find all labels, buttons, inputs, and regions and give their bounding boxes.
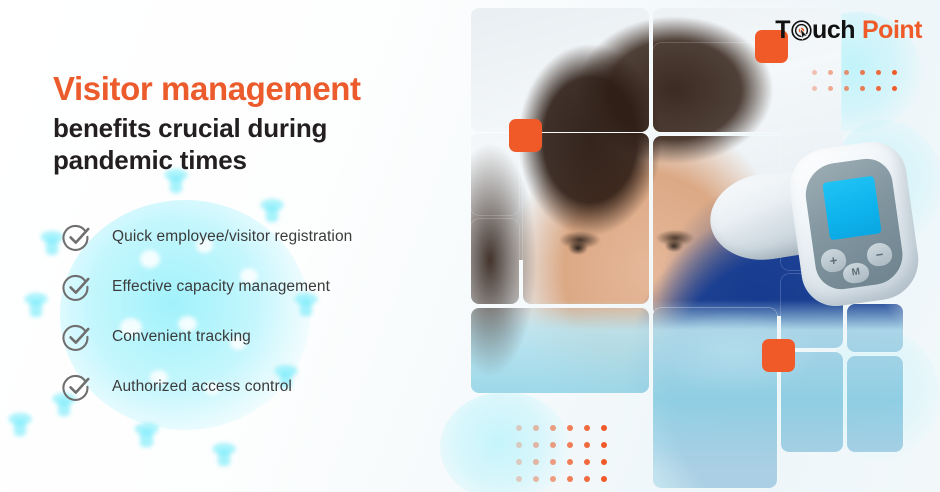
check-circle-icon xyxy=(60,320,94,354)
list-item: Convenient tracking xyxy=(60,312,460,362)
check-circle-icon xyxy=(60,220,94,254)
photo-tile xyxy=(847,304,903,352)
list-item-label: Quick employee/visitor registration xyxy=(112,228,352,246)
photo-tile xyxy=(847,356,903,452)
photo-tile xyxy=(781,130,843,182)
dot-grid-bottom-left xyxy=(516,425,607,482)
logo-text-suffix: uch xyxy=(812,18,855,43)
photo-tile xyxy=(523,133,649,304)
list-item: Effective capacity management xyxy=(60,262,460,312)
headline-line-3: pandemic times xyxy=(53,144,453,176)
photo-tile xyxy=(471,8,649,132)
photo-tile xyxy=(781,274,843,348)
text-column: Visitor management benefits crucial duri… xyxy=(0,0,470,492)
photo-tile xyxy=(653,308,777,488)
list-item-label: Effective capacity management xyxy=(112,278,330,296)
photo-tile xyxy=(471,219,519,304)
orange-square-mid-left xyxy=(509,119,542,152)
headline-line-1: Visitor management xyxy=(53,70,453,108)
list-item-label: Authorized access control xyxy=(112,378,292,396)
thermometer-mode-button: M xyxy=(842,261,871,284)
list-item: Quick employee/visitor registration xyxy=(60,212,460,262)
list-item: Authorized access control xyxy=(60,362,460,412)
check-circle-icon xyxy=(60,370,94,404)
page-title: Visitor management benefits crucial duri… xyxy=(53,70,453,176)
photo-tile xyxy=(471,308,649,393)
headline-line-2: benefits crucial during xyxy=(53,112,453,144)
photo-tile xyxy=(781,186,843,270)
logo-text-point: Point xyxy=(862,18,922,43)
orange-square-lower-right xyxy=(762,339,795,372)
logo-text-prefix: T xyxy=(775,18,790,43)
check-circle-icon xyxy=(60,270,94,304)
touchpoint-logo[interactable]: T uch Point xyxy=(775,18,922,43)
visitor-management-banner: + − M T xyxy=(0,0,940,492)
dot-grid-top-right xyxy=(812,70,897,91)
target-cursor-icon xyxy=(791,20,812,41)
list-item-label: Convenient tracking xyxy=(112,328,251,346)
thermometer-minus-button: − xyxy=(866,241,894,267)
benefits-list: Quick employee/visitor registration Effe… xyxy=(60,212,460,412)
